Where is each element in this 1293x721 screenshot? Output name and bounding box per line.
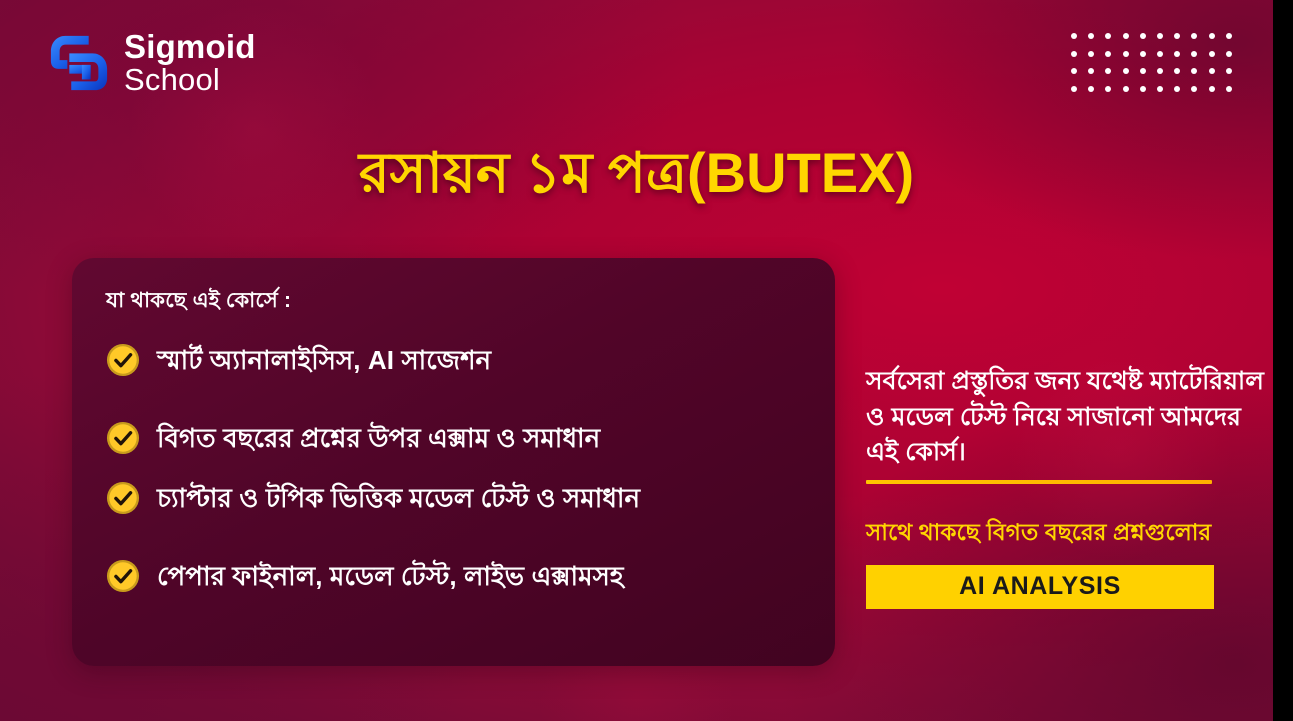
page-title: রসায়ন ১ম পত্র(BUTEX) xyxy=(0,139,1273,207)
feature-label: স্মার্ট অ্যানালাইসিস, AI সাজেশন xyxy=(157,344,491,377)
right-edge-black-bar xyxy=(1273,0,1293,721)
grid-dot xyxy=(1191,86,1197,92)
grid-dot xyxy=(1071,51,1077,57)
feature-label: পেপার ফাইনাল, মডেল টেস্ট, লাইভ এক্সামসহ xyxy=(157,560,624,593)
grid-dot xyxy=(1140,51,1146,57)
right-info-column: সর্বসেরা প্রস্তুতির জন্য যথেষ্ট ম্যাটেরি… xyxy=(866,364,1266,609)
grid-dot xyxy=(1226,51,1232,57)
grid-dot xyxy=(1140,86,1146,92)
course-description: সর্বসেরা প্রস্তুতির জন্য যথেষ্ট ম্যাটেরি… xyxy=(866,364,1266,471)
grid-dot xyxy=(1174,86,1180,92)
grid-dot xyxy=(1123,51,1129,57)
course-promo-poster: Sigmoid School রসায়ন ১ম পত্র(BUTEX) যা … xyxy=(0,0,1293,721)
grid-dot xyxy=(1105,68,1111,74)
grid-dot xyxy=(1191,33,1197,39)
grid-dot xyxy=(1088,68,1094,74)
list-item: বিগত বছরের প্রশ্নের উপর এক্সাম ও সমাধান xyxy=(106,421,805,455)
grid-dot xyxy=(1174,33,1180,39)
grid-dot xyxy=(1209,86,1215,92)
brand-wordmark: Sigmoid School xyxy=(124,30,256,95)
ai-analysis-badge[interactable]: AI ANALYSIS xyxy=(866,565,1214,609)
grid-dot xyxy=(1123,68,1129,74)
grid-dot xyxy=(1226,68,1232,74)
list-item: স্মার্ট অ্যানালাইসিস, AI সাজেশন xyxy=(106,343,805,377)
sigmoid-s-mark-icon xyxy=(48,32,110,94)
check-circle-icon xyxy=(106,343,140,377)
grid-dot xyxy=(1157,51,1163,57)
brand-logo[interactable]: Sigmoid School xyxy=(48,30,256,95)
grid-dot xyxy=(1157,68,1163,74)
check-circle-icon xyxy=(106,559,140,593)
feature-label: বিগত বছরের প্রশ্নের উপর এক্সাম ও সমাধান xyxy=(157,422,600,455)
grid-dot xyxy=(1071,68,1077,74)
grid-dot xyxy=(1140,68,1146,74)
grid-dot xyxy=(1209,68,1215,74)
grid-dot xyxy=(1071,86,1077,92)
card-heading: যা থাকছে এই কোর্সে : xyxy=(106,284,805,319)
feature-label: চ্যাপ্টার ও টপিক ভিত্তিক মডেল টেস্ট ও সম… xyxy=(157,482,640,515)
grid-dot xyxy=(1209,33,1215,39)
gold-underline-divider xyxy=(866,480,1212,484)
grid-dot xyxy=(1174,51,1180,57)
feature-list: স্মার্ট অ্যানালাইসিস, AI সাজেশন বিগত বছর… xyxy=(106,343,805,593)
brand-name-line2: School xyxy=(124,64,256,96)
grid-dot xyxy=(1071,33,1077,39)
grid-dot xyxy=(1088,33,1094,39)
grid-dot xyxy=(1105,86,1111,92)
list-item: চ্যাপ্টার ও টপিক ভিত্তিক মডেল টেস্ট ও সম… xyxy=(106,481,805,515)
grid-dot xyxy=(1088,86,1094,92)
check-circle-icon xyxy=(106,481,140,515)
grid-dot xyxy=(1174,68,1180,74)
grid-dot xyxy=(1157,33,1163,39)
grid-dot xyxy=(1157,86,1163,92)
grid-dot xyxy=(1088,51,1094,57)
brand-name-line1: Sigmoid xyxy=(124,30,256,64)
grid-dot xyxy=(1105,51,1111,57)
check-circle-icon xyxy=(106,421,140,455)
grid-dot xyxy=(1226,86,1232,92)
list-item: পেপার ফাইনাল, মডেল টেস্ট, লাইভ এক্সামসহ xyxy=(106,559,805,593)
course-features-card: যা থাকছে এই কোর্সে : স্মার্ট অ্যানালাইসি… xyxy=(72,258,835,666)
grid-dot xyxy=(1226,33,1232,39)
grid-dot xyxy=(1105,33,1111,39)
grid-dot xyxy=(1123,86,1129,92)
grid-dot xyxy=(1123,33,1129,39)
ai-analysis-caption: সাথে থাকছে বিগত বছরের প্রশ্নগুলোর xyxy=(866,514,1266,553)
dot-grid-icon xyxy=(1071,33,1243,103)
grid-dot xyxy=(1191,68,1197,74)
grid-dot xyxy=(1191,51,1197,57)
grid-dot xyxy=(1209,51,1215,57)
grid-dot xyxy=(1140,33,1146,39)
